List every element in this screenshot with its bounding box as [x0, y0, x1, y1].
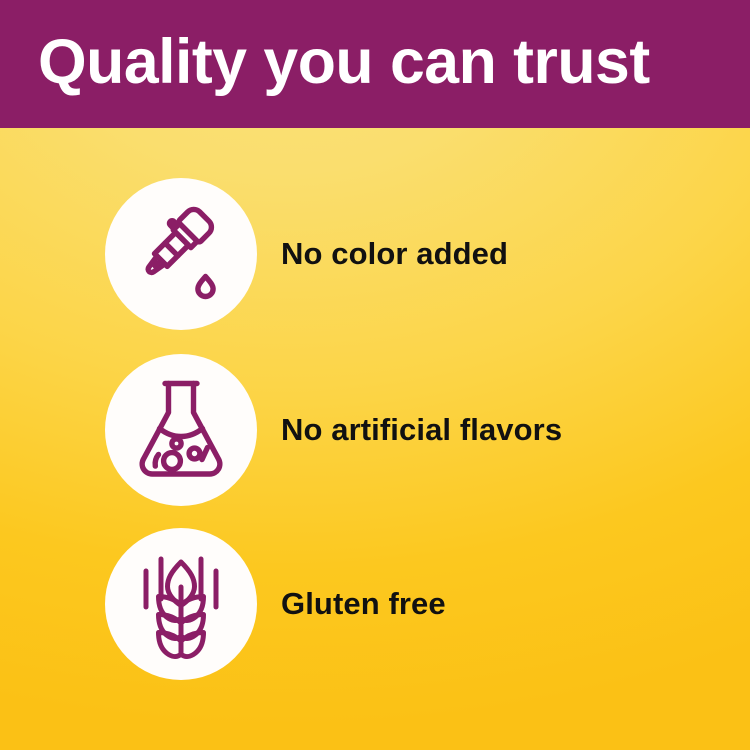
quality-poster: Quality you can trust	[0, 0, 750, 750]
feature-label: Gluten free	[281, 586, 446, 622]
wheat-icon	[138, 547, 224, 661]
feature-row: Gluten free	[0, 528, 750, 680]
feature-icon-badge	[105, 178, 257, 330]
feature-label: No artificial flavors	[281, 412, 562, 448]
page-title: Quality you can trust	[38, 31, 723, 94]
feature-icon-badge	[105, 354, 257, 506]
feature-label: No color added	[281, 236, 508, 272]
feature-icon-badge	[105, 528, 257, 680]
flask-icon	[131, 377, 231, 483]
feature-row: No artificial flavors	[0, 354, 750, 506]
feature-row: No color added	[0, 178, 750, 330]
header-banner: Quality you can trust	[0, 0, 750, 128]
dropper-icon	[129, 202, 233, 306]
